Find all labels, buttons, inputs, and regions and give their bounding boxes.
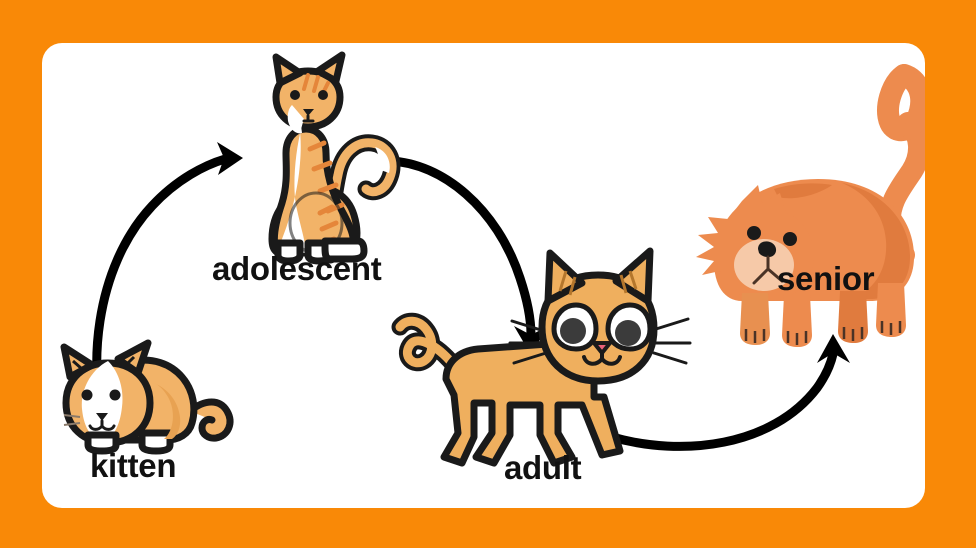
adult-illustration <box>400 251 690 463</box>
diagram-canvas: kitten adolescent adult senior <box>0 0 976 548</box>
kitten-illustration <box>64 343 230 451</box>
adolescent-illustration <box>272 55 392 261</box>
stage-label-senior: senior <box>777 260 874 298</box>
white-panel: kitten adolescent adult senior <box>42 43 925 508</box>
stage-label-kitten: kitten <box>90 447 176 485</box>
senior-illustration <box>696 75 921 347</box>
stage-label-adolescent: adolescent <box>212 250 381 288</box>
stage-label-adult: adult <box>504 449 581 487</box>
